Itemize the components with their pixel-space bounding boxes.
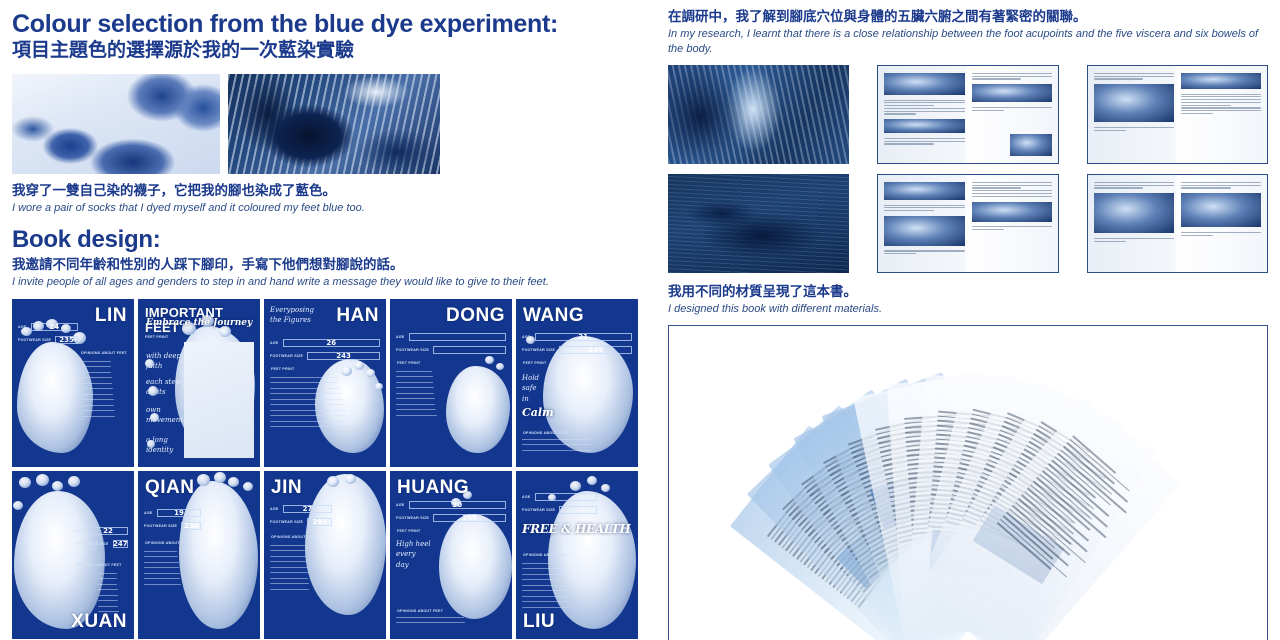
spread-image: [884, 119, 964, 133]
poster-field-box: 230: [181, 522, 201, 530]
poster-field-box: 27: [283, 505, 333, 513]
poster-field-row: FOOTWEAR SIZE: [396, 346, 506, 354]
poster-subtitle: Embrace the Journey: [146, 319, 252, 328]
poster-field-label: FOOTWEAR SIZE: [396, 516, 429, 520]
poster-field-value: 30: [410, 502, 505, 508]
footprint-blob: [19, 477, 31, 488]
poster-card-xuan[interactable]: XUANAGE22FOOTWEAR SIZE247OPINIONS ABOUT …: [12, 471, 134, 639]
poster-field-box: 247: [113, 540, 128, 548]
section-title-book-design: Book design:: [12, 227, 640, 254]
poster-field-box: [535, 493, 597, 501]
poster-field-label: AGE: [75, 529, 84, 533]
poster-field-label: AGE: [270, 507, 279, 511]
footprint-blob: [13, 501, 23, 510]
poster-handwriting-lines: [522, 439, 632, 456]
book-contents-photo: [668, 174, 849, 273]
poster-name: QIAN: [145, 477, 195, 499]
poster-card-lin[interactable]: LINAGE24FOOTWEAR SIZE235OPINIONS ABOUT F…: [12, 299, 134, 467]
poster-field-label: FOOTWEAR SIZE: [270, 520, 303, 524]
poster-field-value: 295: [308, 519, 331, 525]
poster-field-label: AGE: [522, 335, 531, 339]
poster-field-value: 243: [308, 353, 379, 359]
poster-handwriting-lines: [396, 617, 506, 628]
poster-field-row: FOOTWEAR SIZE245: [522, 346, 632, 354]
poster-field-row: FOOTWEAR SIZE295: [270, 518, 332, 526]
poster-field-row: AGE19: [144, 509, 201, 517]
poster-name: LIU: [523, 611, 555, 633]
poster-field-value: 230: [182, 523, 200, 529]
poster-field-label: AGE: [396, 503, 405, 507]
poster-field-box: 22: [88, 527, 128, 535]
poster-handwriting-lines: [270, 377, 380, 432]
poster-handwriting-lines: [396, 371, 454, 421]
spread-image: [884, 73, 964, 95]
right-column: 在調研中，我了解到腳底穴位與身體的五臟六腑之間有著緊密的關聯。 In my re…: [648, 0, 1280, 640]
poster-name: XUAN: [71, 611, 127, 633]
footprint-blob: [341, 366, 352, 376]
poster-card-han[interactable]: HANEveryposingthe FiguresAGE26FOOTWEAR S…: [264, 299, 386, 467]
poster-name: HAN: [336, 305, 379, 327]
poster-field-value: 247: [114, 541, 127, 547]
poster-field-value: 27: [284, 506, 332, 512]
blue-dyed-hands-photo: [228, 74, 440, 174]
poster-grid: LINAGE24FOOTWEAR SIZE235OPINIONS ABOUT F…: [12, 299, 638, 639]
footprint-blob: [243, 482, 253, 491]
footprint-blob: [345, 474, 356, 484]
poster-field-value: 19: [158, 510, 201, 516]
poster-field-row: AGE24: [18, 323, 78, 331]
materials-caption-block: 我用不同的材質呈現了這本書。 I designed this book with…: [668, 283, 1268, 317]
materials-caption-en: I designed this book with different mate…: [668, 302, 1268, 317]
poster-field-label: FOOTWEAR SIZE: [144, 524, 177, 528]
poster-card-wang[interactable]: WANGAGE21FOOTWEAR SIZE245FEET PRINTHolds…: [516, 299, 638, 467]
poster-name: DONG: [446, 305, 505, 327]
poster-field-label: FOOTWEAR SIZE: [270, 354, 303, 358]
poster-field-value: 21: [536, 334, 631, 340]
book-cover-photo: [668, 65, 849, 164]
poster-field-row: FOOTWEAR SIZE235: [18, 336, 78, 344]
poster-field-row: AGE: [396, 333, 506, 341]
poster-card-huang[interactable]: HUANGAGE30FOOTWEAR SIZE255FEET PRINTHigh…: [390, 471, 512, 639]
dye-caption-en: I wore a pair of socks that I dyed mysel…: [12, 201, 640, 216]
poster-field-value: 22: [89, 528, 127, 534]
footprint-blob: [496, 363, 504, 370]
poster-field-box: 245: [559, 346, 632, 354]
poster-name: JIN: [271, 477, 302, 499]
poster-card-dong[interactable]: DONGAGEFOOTWEAR SIZEFEET PRINT: [390, 299, 512, 467]
dye-caption-cn: 我穿了一雙自己染的襪子，它把我的腳也染成了藍色。: [12, 182, 640, 200]
poster-field-box: 255: [433, 514, 506, 522]
poster-field-box: [409, 333, 506, 341]
footprint-blob: [52, 481, 63, 491]
poster-field-label: FOOTWEAR SIZE: [75, 542, 108, 546]
spread-image: [1181, 73, 1261, 89]
poster-field-row: FOOTWEAR SIZE247: [75, 540, 128, 548]
poster-handwriting-lines: [522, 563, 590, 613]
poster-name: WANG: [523, 305, 584, 327]
poster-field-row: AGE26: [270, 339, 380, 347]
poster-field-row: FOOTWEAR SIZE255: [396, 514, 506, 522]
spread-page-right: [970, 70, 1054, 159]
spread-image: [1181, 193, 1261, 227]
footprint-blob: [214, 472, 226, 483]
footprint-sole: [439, 514, 512, 618]
footprint-blob: [587, 476, 597, 485]
poster-name: LIN: [95, 305, 127, 327]
poster-field-value: 255: [434, 515, 505, 521]
section-title-colour-selection: Colour selection from the blue dye exper…: [12, 10, 640, 38]
footprint-sole: [446, 366, 509, 453]
poster-field-label: FOOTWEAR SIZE: [522, 508, 555, 512]
poster-field-box: 19: [157, 509, 202, 517]
poster-field-box: 24: [31, 323, 78, 331]
poster-card-qian[interactable]: QIANAGE19FOOTWEAR SIZE230OPINIONS ABOUT …: [138, 471, 260, 639]
spread-page-right: [1179, 70, 1263, 159]
book-photo-grid: [668, 65, 1268, 273]
left-column: Colour selection from the blue dye exper…: [0, 0, 648, 640]
poster-field-row: AGE27: [270, 505, 332, 513]
poster-field-box: 295: [307, 518, 332, 526]
poster-field-row: AGE21: [522, 333, 632, 341]
footprint-blob: [601, 484, 610, 492]
poster-field-row: AGE22: [75, 527, 128, 535]
footprint-blob: [570, 481, 581, 491]
spread-page-left: [1092, 179, 1176, 268]
poster-field-value: 24: [32, 324, 77, 330]
footprint-blob: [228, 477, 239, 487]
spread-image: [1094, 193, 1174, 233]
poster-card-liu[interactable]: LIUAGEFOOTWEAR SIZEFREE & HEALTHOPINIONS…: [516, 471, 638, 639]
spread-image: [1010, 134, 1052, 156]
poster-field-label: FOOTWEAR SIZE: [396, 348, 429, 352]
footprint-blob: [197, 474, 210, 486]
spread-image: [1094, 84, 1174, 122]
spread-image: [884, 216, 964, 246]
portfolio-board: Colour selection from the blue dye exper…: [0, 0, 1280, 640]
poster-field-box: 243: [307, 352, 380, 360]
poster-field-value: 26: [284, 340, 379, 346]
research-caption-en: In my research, I learnt that there is a…: [668, 27, 1268, 57]
book-spread-photo-1: [877, 65, 1058, 164]
research-caption-cn: 在調研中，我了解到腳底穴位與身體的五臟六腑之間有著緊密的關聯。: [668, 8, 1268, 26]
dye-photo-row: [12, 74, 640, 174]
poster-field-row: FOOTWEAR SIZE243: [270, 352, 380, 360]
poster-field-value: 245: [560, 347, 631, 353]
poster-field-box: 235: [55, 336, 78, 344]
poster-field-value: 235: [56, 337, 77, 343]
poster-field-label: AGE: [396, 335, 405, 339]
book-spread-photo-3: [877, 174, 1058, 273]
poster-field-row: AGE30: [396, 501, 506, 509]
poster-field-box: 26: [283, 339, 380, 347]
spread-page-left: [882, 179, 966, 268]
spread-page-left: [1092, 70, 1176, 159]
section-title-colour-selection-cn: 項目主題色的選擇源於我的一次藍染實驗: [12, 39, 640, 64]
poster-field-label: AGE: [144, 511, 153, 515]
book-spread-photo-2: [1087, 65, 1268, 164]
poster-headline: FREE & HEALTH: [522, 523, 630, 536]
poster-field-box: 21: [535, 333, 632, 341]
poster-handwriting-lines: [270, 545, 326, 595]
book-spread-photo-4: [1087, 174, 1268, 273]
footprint-blob: [36, 474, 49, 486]
book-design-caption-cn: 我邀請不同年齡和性別的人踩下腳印，手寫下他們想對腳說的話。: [12, 256, 640, 274]
spread-page-left: [882, 70, 966, 159]
spread-image: [972, 202, 1052, 222]
poster-card-important-feet[interactable]: IMPORTANT FEETEmbrace the JourneyFEET PR…: [138, 299, 260, 467]
poster-field-label: AGE: [18, 325, 27, 329]
poster-name: HUANG: [397, 477, 469, 499]
poster-field-row: FOOTWEAR SIZE: [522, 506, 597, 514]
spread-page-right: [970, 179, 1054, 268]
poster-field-row: AGE: [522, 493, 597, 501]
poster-handwriting-lines: [82, 361, 128, 422]
footprint-blob: [68, 476, 80, 487]
spread-page-right: [1179, 179, 1263, 268]
poster-field-label: FOOTWEAR SIZE: [522, 348, 555, 352]
poster-field-box: [559, 506, 596, 514]
poster-field-label: AGE: [522, 495, 531, 499]
poster-handwriting-lines: [144, 551, 198, 590]
spread-image: [972, 84, 1052, 102]
poster-field-label: FOOTWEAR SIZE: [18, 338, 51, 342]
translucent-pages-fan-photo: [668, 325, 1268, 640]
footprint-sole: [14, 491, 104, 629]
poster-field-label: AGE: [270, 341, 279, 345]
poster-field-row: FOOTWEAR SIZE230: [144, 522, 201, 530]
poster-field-box: [433, 346, 506, 354]
poster-field-box: 30: [409, 501, 506, 509]
spread-image: [884, 182, 964, 200]
blue-dye-fabric-photo: [12, 74, 220, 174]
poster-card-jin[interactable]: JINAGE27FOOTWEAR SIZE295OPINIONS ABOUT F…: [264, 471, 386, 639]
materials-caption-cn: 我用不同的材質呈現了這本書。: [668, 283, 1268, 301]
book-design-caption-en: I invite people of all ages and genders …: [12, 275, 640, 290]
